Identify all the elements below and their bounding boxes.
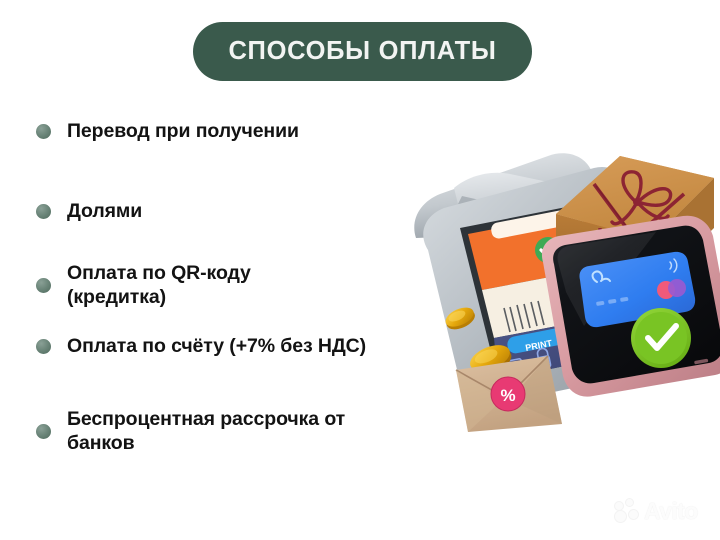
- page-title-pill: СПОСОБЫ ОПЛАТЫ: [193, 22, 532, 81]
- bullet-dot-icon: [36, 204, 51, 219]
- list-item: Перевод при получении: [36, 120, 416, 144]
- smartphone-icon: [542, 216, 720, 397]
- avito-logo-icon: [615, 499, 641, 523]
- list-item: Беспроцентная рассрочка от банков: [36, 408, 416, 456]
- avito-brand-label: Avito: [644, 500, 698, 523]
- discount-percent-badge-icon: %: [491, 377, 525, 411]
- list-item: Оплата по QR-коду (кредитка): [36, 262, 416, 310]
- bullet-dot-icon: [36, 424, 51, 439]
- bullet-dot-icon: [36, 278, 51, 293]
- list-item: Оплата по счёту (+7% без НДС): [36, 335, 416, 359]
- bullet-dot-icon: [36, 124, 51, 139]
- payment-method-label: Долями: [67, 200, 142, 224]
- payment-method-label: Перевод при получении: [67, 120, 299, 144]
- payment-method-label: Оплата по счёту (+7% без НДС): [67, 335, 366, 359]
- list-item: Долями: [36, 200, 416, 224]
- page-title: СПОСОБЫ ОПЛАТЫ: [228, 39, 496, 65]
- payment-illustration: PRINT: [398, 142, 720, 432]
- payment-method-label: Оплата по QR-коду (кредитка): [67, 262, 317, 310]
- slide-root: СПОСОБЫ ОПЛАТЫ Перевод при получении Дол…: [0, 0, 720, 540]
- success-check-badge-icon: [631, 308, 691, 368]
- bullet-dot-icon: [36, 339, 51, 354]
- svg-text:%: %: [500, 386, 515, 405]
- payment-method-label: Беспроцентная рассрочка от банков: [67, 408, 407, 456]
- avito-watermark: Avito: [615, 496, 711, 526]
